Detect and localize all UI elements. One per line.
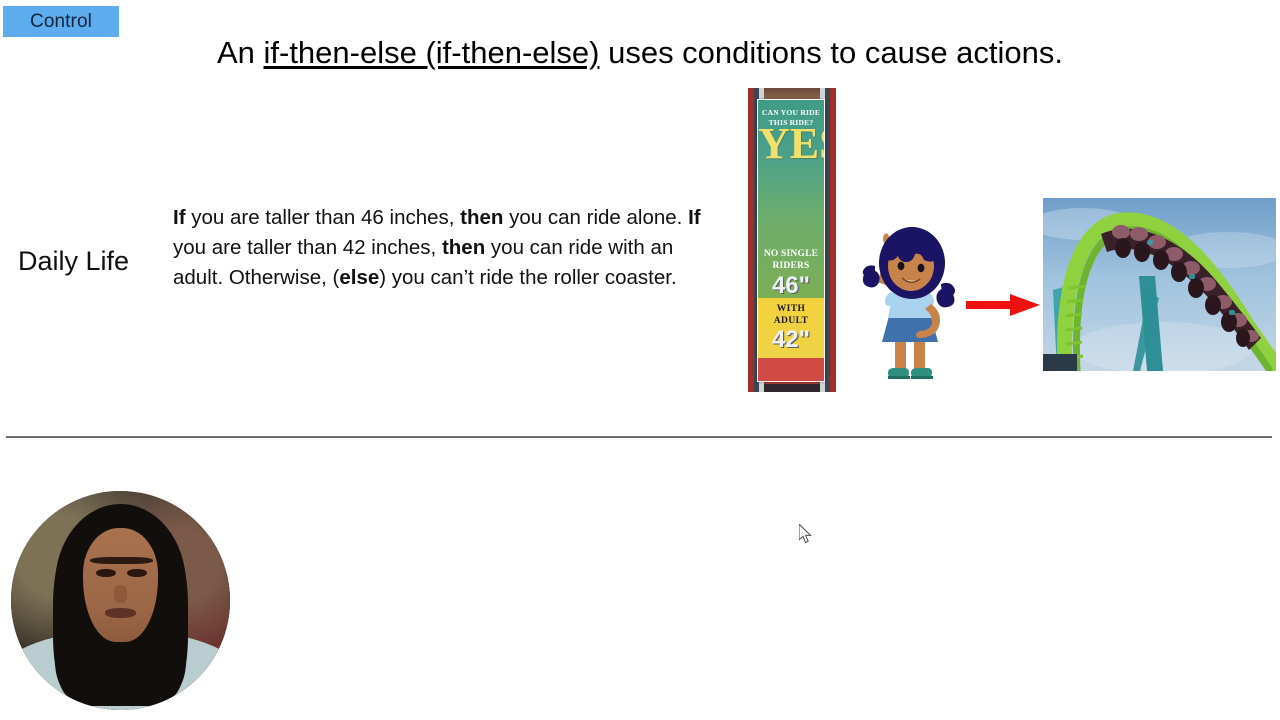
example-segment-0: If <box>173 206 186 229</box>
title-term-underlined: if-then-else (if-then-else) <box>264 35 600 70</box>
example-segment-5: you are taller than 42 inches, <box>173 236 442 259</box>
mouse-cursor-icon <box>799 524 813 544</box>
sign-restriction: NO SINGLE RIDERS <box>758 248 824 272</box>
roller-coaster-photo <box>1043 198 1276 371</box>
example-paragraph: If you are taller than 46 inches, then y… <box>173 203 725 293</box>
sign-answer-yes: YES <box>758 126 824 161</box>
height-requirement-sign-photo: CAN YOU RIDE THIS RIDE? YES NO SINGLE RI… <box>748 88 836 392</box>
section-label-daily-life: Daily Life <box>18 245 129 277</box>
title-prefix: An <box>217 35 264 70</box>
flow-arrow-icon <box>966 294 1040 316</box>
page-title: An if-then-else (if-then-else) uses cond… <box>0 33 1280 73</box>
example-segment-2: then <box>460 206 503 229</box>
girl-illustration <box>855 222 961 390</box>
coaster-scene <box>1043 198 1276 371</box>
sign-height-with-adult: 42" <box>758 328 824 352</box>
example-segment-6: then <box>442 236 485 259</box>
sign-height-alone: 46" <box>758 274 824 298</box>
sign-with-adult-label: WITH ADULT <box>758 303 824 327</box>
topic-badge-label: Control <box>30 12 92 31</box>
example-segment-9: ) you can’t ride the roller coaster. <box>379 266 676 289</box>
webcam-avatar[interactable] <box>11 491 230 710</box>
sign-panel: CAN YOU RIDE THIS RIDE? YES NO SINGLE RI… <box>757 99 825 382</box>
sign-restriction-line1: NO SINGLE <box>758 248 824 260</box>
webcam-brow-right <box>105 557 153 565</box>
example-segment-4: If <box>688 206 701 229</box>
webcam-nose <box>114 585 127 603</box>
webcam-mouth <box>105 608 136 618</box>
example-segment-8: else <box>339 266 379 289</box>
sign-zone-red <box>758 358 824 381</box>
title-suffix: uses conditions to cause actions. <box>599 35 1063 70</box>
example-segment-3: you can ride alone. <box>503 206 688 229</box>
sign-with-adult-line1: WITH <box>758 303 824 315</box>
horizontal-divider <box>6 436 1272 438</box>
sign-restriction-line2: RIDERS <box>758 260 824 272</box>
sign-question-line1: CAN YOU RIDE <box>758 108 824 118</box>
example-segment-1: you are taller than 46 inches, <box>186 206 461 229</box>
